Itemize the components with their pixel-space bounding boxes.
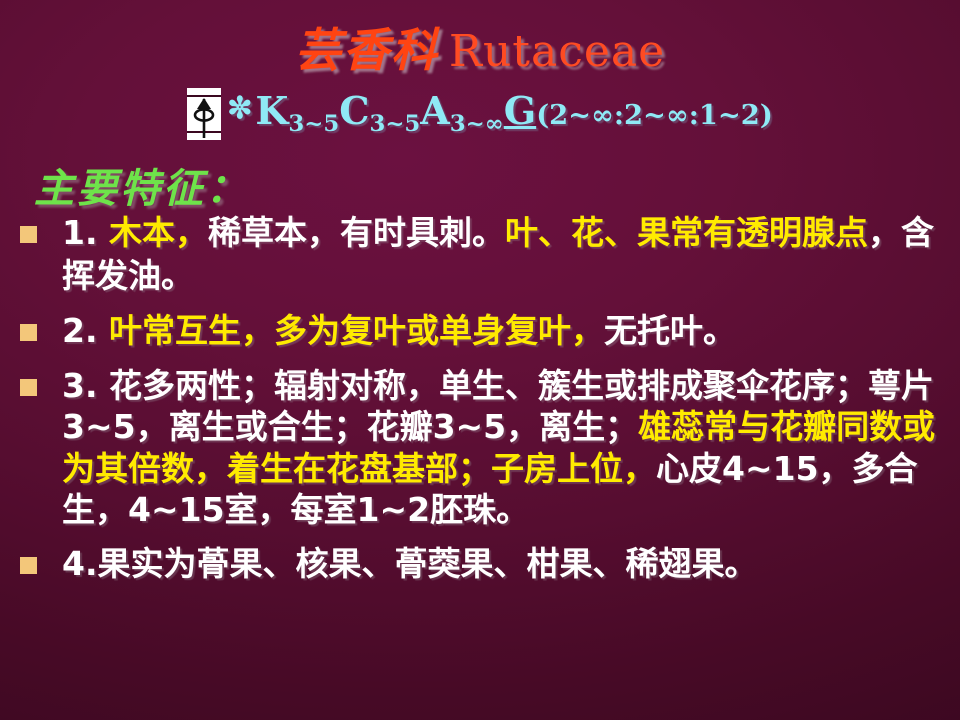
gynoecium-letter: G [504, 88, 536, 133]
bullet-marker-icon [20, 557, 37, 574]
text-run-yellow: 叶、花、果常有透明腺点 [505, 213, 868, 252]
calyx-letter: K [255, 88, 288, 133]
androecium-count: 3~∞ [450, 111, 504, 137]
title-latin: Rutaceae [449, 26, 665, 77]
floral-formula-text: ✼K3~5C3~5A3~∞G(2~∞:2~∞:1~2) [227, 92, 773, 136]
text-run-yellow: 木本， [109, 213, 208, 252]
bisexual-flower-symbol-icon [187, 88, 221, 140]
text-run-white: 稀草本，有时具刺。 [208, 213, 505, 252]
list-item: 2. 叶常互生，多为复叶或单身复叶，无托叶。 [16, 310, 952, 353]
calyx-count: 3~5 [288, 111, 339, 137]
text-run-white: 2. [62, 311, 109, 350]
list-item: 4.果实为蓇果、核果、蓇葖果、柑果、稀翅果。 [16, 543, 952, 586]
text-run-yellow: 叶常互生，多为复叶或单身复叶， [109, 311, 604, 350]
list-item: 3. 花多两性；辐射对称，单生、簇生或排成聚伞花序；萼片3~5，离生或合生；花瓣… [16, 365, 952, 531]
title-chinese: 芸香科 [295, 23, 439, 77]
list-item-text: 1. 木本，稀草本，有时具刺。叶、花、果常有透明腺点，含挥发油。 [62, 212, 952, 298]
actinomorphic-star-icon: ✼ [227, 91, 252, 126]
list-item-text: 4.果实为蓇果、核果、蓇葖果、柑果、稀翅果。 [62, 543, 952, 586]
bullet-marker-icon [20, 324, 37, 341]
presentation-slide: 芸香科Rutaceae ✼K3~5C3~5A3~∞G(2~∞:2~∞:1~2) … [0, 0, 960, 720]
list-item-text: 3. 花多两性；辐射对称，单生、簇生或排成聚伞花序；萼片3~5，离生或合生；花瓣… [62, 365, 952, 531]
section-heading: 主要特征： [34, 156, 249, 214]
text-run-white: 4.果实为蓇果、核果、蓇葖果、柑果、稀翅果。 [62, 544, 758, 583]
androecium-letter: A [420, 88, 449, 133]
list-item-text: 2. 叶常互生，多为复叶或单身复叶，无托叶。 [62, 310, 952, 353]
floral-formula-row: ✼K3~5C3~5A3~∞G(2~∞:2~∞:1~2) [0, 88, 960, 140]
bullet-marker-icon [20, 226, 37, 243]
feature-list: 1. 木本，稀草本，有时具刺。叶、花、果常有透明腺点，含挥发油。 2. 叶常互生… [16, 212, 952, 594]
slide-title: 芸香科Rutaceae [0, 14, 960, 80]
corolla-count: 3~5 [369, 111, 420, 137]
text-run-white: 无托叶。 [604, 311, 736, 350]
gynoecium-detail: (2~∞:2~∞:1~2) [536, 99, 773, 131]
bullet-marker-icon [20, 379, 37, 396]
list-item: 1. 木本，稀草本，有时具刺。叶、花、果常有透明腺点，含挥发油。 [16, 212, 952, 298]
corolla-letter: C [339, 88, 369, 133]
text-run-white: 1. [62, 213, 109, 252]
